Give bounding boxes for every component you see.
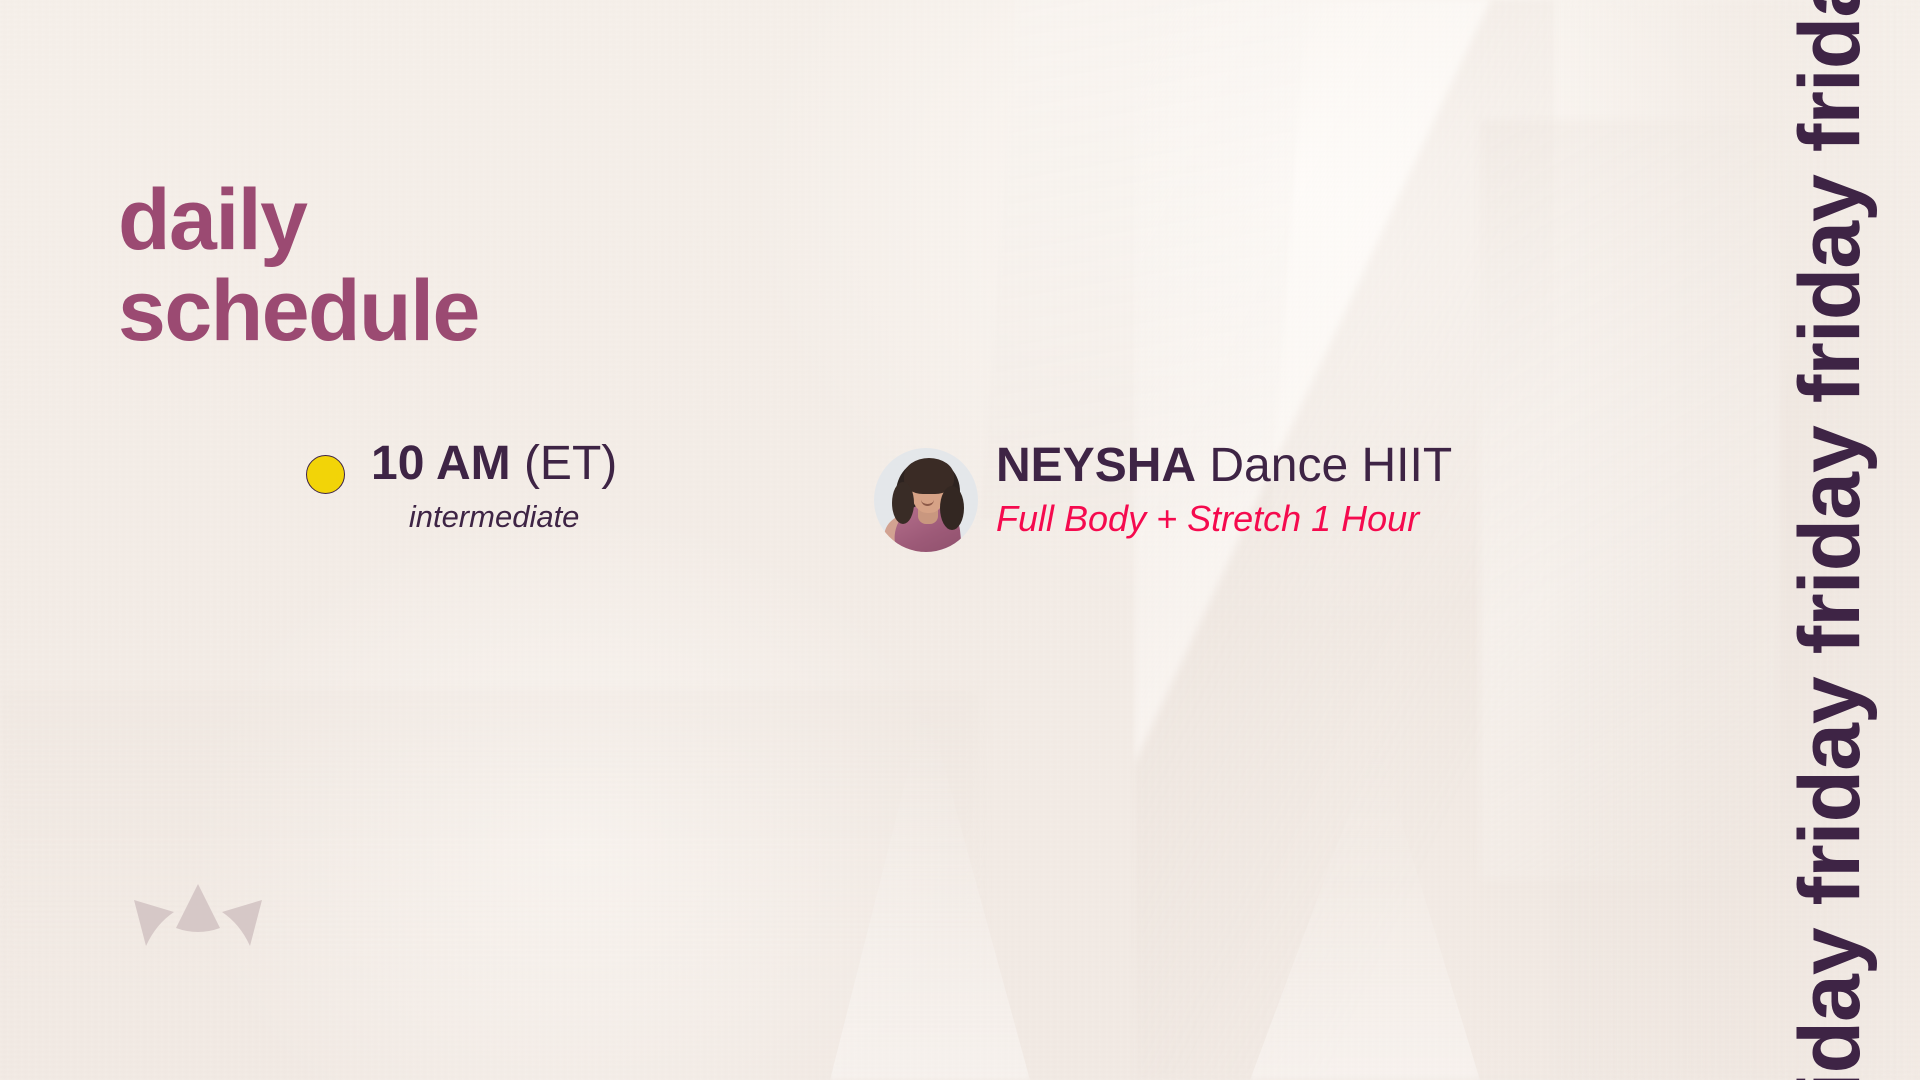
daily-schedule-poster: daily schedule 10 AM (ET) intermediate	[0, 0, 1920, 1080]
class-time-value: 10 AM	[371, 437, 511, 490]
day-strip: friday friday friday friday friday	[1740, 0, 1920, 1080]
class-detail: Full Body + Stretch 1 Hour	[996, 499, 1452, 539]
class-text-group: NEYSHA Dance HIIT Full Body + Stretch 1 …	[996, 438, 1452, 538]
crown-lotus-logo	[128, 884, 268, 962]
class-title: NEYSHA Dance HIIT	[996, 440, 1452, 493]
page-title: daily schedule	[118, 175, 479, 357]
class-level: intermediate	[371, 500, 617, 534]
avatar-curl-right	[940, 486, 964, 530]
page-title-line-2: schedule	[118, 266, 479, 357]
page-title-line-1: daily	[118, 175, 479, 266]
instructor-name: NEYSHA	[996, 439, 1196, 492]
schedule-list: 10 AM (ET) intermediate NEYSHA	[0, 438, 1700, 578]
class-time: 10 AM (ET)	[371, 438, 617, 490]
schedule-entry-class: NEYSHA Dance HIIT Full Body + Stretch 1 …	[874, 438, 1452, 552]
class-name: Dance HIIT	[1209, 439, 1452, 492]
class-timezone: (ET)	[524, 437, 617, 490]
background-spire-right	[1250, 740, 1480, 1080]
day-label: friday friday friday friday friday	[1787, 0, 1873, 1080]
time-text-group: 10 AM (ET) intermediate	[371, 438, 617, 534]
status-dot-icon	[306, 455, 345, 494]
avatar-curl-left	[892, 482, 914, 524]
avatar	[874, 448, 978, 552]
background-spire-left	[830, 700, 1030, 1080]
schedule-entry-time: 10 AM (ET) intermediate	[306, 438, 617, 534]
